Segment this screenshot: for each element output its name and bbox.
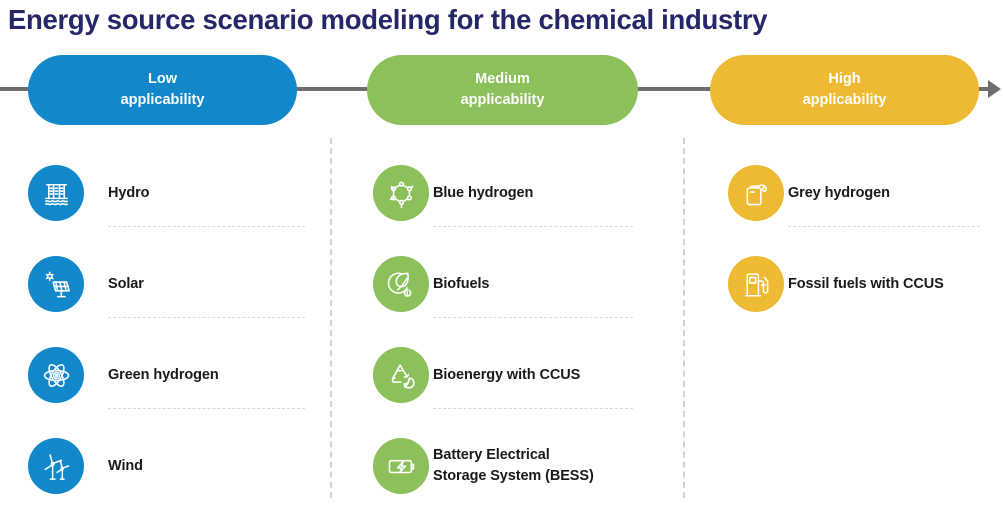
molecule-icon [373, 165, 429, 221]
battery-bolt-icon [373, 438, 429, 494]
page-title: Energy source scenario modeling for the … [8, 4, 988, 36]
leaf-droplet-icon [373, 256, 429, 312]
hydro-dam-icon [28, 165, 84, 221]
list-item[interactable]: Battery ElectricalStorage System (BESS) [345, 421, 685, 507]
list-item[interactable]: Bioenergy with CCUS [345, 330, 685, 420]
recycle-leaf-icon [373, 347, 429, 403]
pill-label-line2: applicability [803, 90, 887, 111]
pill-label-line1: Medium [475, 69, 530, 90]
arrow-right-icon [988, 80, 1001, 98]
list-item[interactable]: Green hydrogen [0, 330, 330, 420]
list-item-label: Solar [108, 239, 144, 329]
item-separator [108, 317, 305, 318]
item-separator [108, 408, 305, 409]
pill-label-line1: High [828, 69, 860, 90]
applicability-pill-low[interactable]: Lowapplicability [28, 55, 297, 125]
list-item-label: Green hydrogen [108, 330, 219, 420]
timeline-axis-segment-2 [633, 87, 715, 91]
list-item-label: Biofuels [433, 239, 489, 329]
list-item[interactable]: Solar [0, 239, 330, 329]
list-item-label: Wind [108, 421, 143, 507]
list-item-label: Hydro [108, 148, 149, 238]
infographic-page: Energy source scenario modeling for the … [0, 0, 1003, 507]
list-item[interactable]: Biofuels [345, 239, 685, 329]
timeline-axis-segment-1 [292, 87, 372, 91]
list-item[interactable]: Fossil fuels with CCUS [700, 239, 1003, 329]
column-high: Grey hydrogen Fossil fuels with CCUS [700, 130, 1003, 507]
list-item-label: Grey hydrogen [788, 148, 890, 238]
jerrycan-icon [728, 165, 784, 221]
atom-icon [28, 347, 84, 403]
item-separator [788, 226, 980, 227]
item-separator [433, 317, 633, 318]
wind-turbine-icon [28, 438, 84, 494]
fuel-pump-icon [728, 256, 784, 312]
column-medium: Blue hydrogen Biofuels Bioenergy with CC… [345, 130, 685, 507]
applicability-timeline: LowapplicabilityMediumapplicabilityHigha… [0, 55, 1003, 130]
item-separator [433, 226, 633, 227]
list-item[interactable]: Hydro [0, 148, 330, 238]
column-low: Hydro Solar Green hydrogen Wind [0, 130, 330, 507]
applicability-pill-high[interactable]: Highapplicability [710, 55, 979, 125]
list-item-label: Fossil fuels with CCUS [788, 239, 944, 329]
energy-source-columns: Hydro Solar Green hydrogen Wind [0, 130, 1003, 507]
list-item[interactable]: Blue hydrogen [345, 148, 685, 238]
list-item[interactable]: Grey hydrogen [700, 148, 1003, 238]
applicability-pill-medium[interactable]: Mediumapplicability [367, 55, 638, 125]
item-separator [108, 226, 305, 227]
column-divider [330, 138, 332, 498]
pill-label-line2: applicability [461, 90, 545, 111]
pill-label-line1: Low [148, 69, 177, 90]
list-item-label: Battery ElectricalStorage System (BESS) [433, 421, 594, 507]
list-item[interactable]: Wind [0, 421, 330, 507]
list-item-label: Blue hydrogen [433, 148, 533, 238]
solar-panel-icon [28, 256, 84, 312]
item-separator [433, 408, 633, 409]
column-divider [683, 138, 685, 498]
list-item-label: Bioenergy with CCUS [433, 330, 580, 420]
pill-label-line2: applicability [121, 90, 205, 111]
